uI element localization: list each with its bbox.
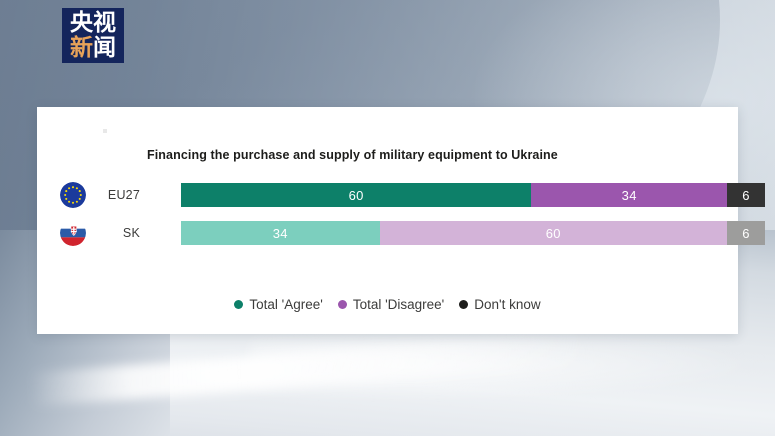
logo-line-2: 新 闻 xyxy=(70,37,116,60)
legend-dot-disagree-icon xyxy=(338,300,347,309)
bar-segment-dontknow-sk: 6 xyxy=(727,221,765,245)
legend-item-dontknow[interactable]: Don't know xyxy=(459,297,540,312)
legend-label-disagree: Total 'Disagree' xyxy=(353,297,444,312)
legend-label-agree: Total 'Agree' xyxy=(249,297,322,312)
stacked-bar-eu27: 60 34 6 xyxy=(181,183,765,207)
logo-line-1: 央视 xyxy=(70,12,116,35)
chart-row-label-sk: SK xyxy=(92,226,140,240)
logo-char-wen: 闻 xyxy=(93,37,116,60)
slovakia-flag-icon xyxy=(60,220,86,246)
bar-segment-agree-sk: 34 xyxy=(181,221,380,245)
legend-dot-agree-icon xyxy=(234,300,243,309)
card-corner-mark xyxy=(103,129,107,133)
chart-title: Financing the purchase and supply of mil… xyxy=(147,148,558,162)
legend-label-dontknow: Don't know xyxy=(474,297,540,312)
legend-item-agree[interactable]: Total 'Agree' xyxy=(234,297,322,312)
broadcast-screen: 央视 新 闻 Financing the purchase and supply… xyxy=(0,0,775,436)
chart-row-label-eu27: EU27 xyxy=(92,188,140,202)
legend-item-disagree[interactable]: Total 'Disagree' xyxy=(338,297,444,312)
bar-segment-disagree-eu27: 34 xyxy=(531,183,727,207)
stacked-bar-sk: 34 60 6 xyxy=(181,221,765,245)
chart-legend: Total 'Agree' Total 'Disagree' Don't kno… xyxy=(37,297,738,312)
bar-segment-agree-eu27: 60 xyxy=(181,183,531,207)
chart-card: Financing the purchase and supply of mil… xyxy=(37,107,738,334)
logo-char-xin: 新 xyxy=(70,37,93,60)
bar-segment-dontknow-eu27: 6 xyxy=(727,183,765,207)
bar-segment-disagree-sk: 60 xyxy=(380,221,727,245)
cctv-news-logo: 央视 新 闻 xyxy=(62,8,124,63)
eu-flag-icon xyxy=(60,182,86,208)
legend-dot-dontknow-icon xyxy=(459,300,468,309)
